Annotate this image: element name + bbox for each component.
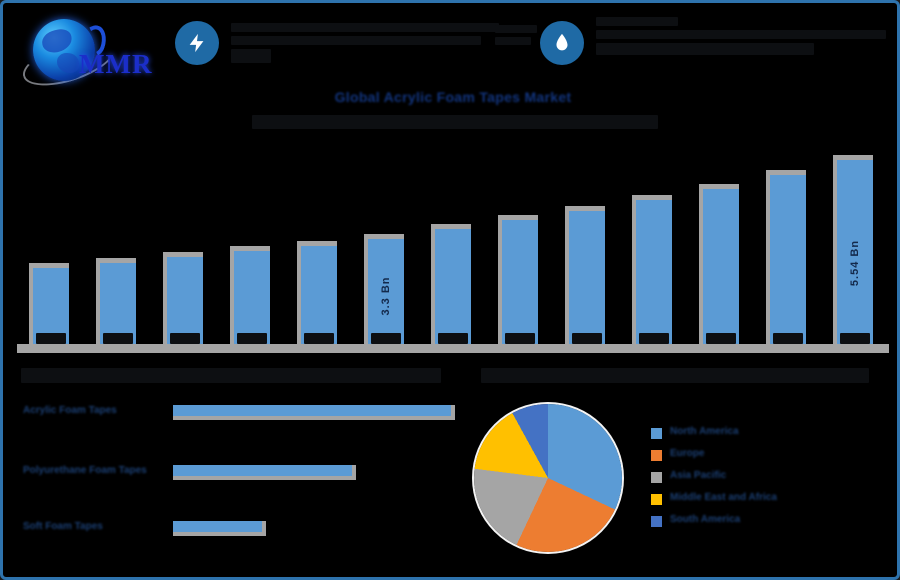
header-line [596, 30, 886, 39]
segment-bar-chart: Acrylic Foam TapesPolyurethane Foam Tape… [17, 399, 467, 561]
segment-label: Soft Foam Tapes [23, 521, 103, 534]
legend-swatch [651, 494, 662, 505]
legend-label: North America [670, 426, 739, 437]
header-line [596, 43, 814, 55]
legend-swatch [651, 450, 662, 461]
legend-label: Europe [670, 448, 704, 459]
x-axis-tick-label [706, 333, 736, 344]
bar-fill [703, 189, 739, 351]
section-header-right [481, 368, 869, 383]
brand-text: MMR [79, 49, 152, 80]
section-header-left [21, 368, 441, 383]
bar-column [565, 206, 609, 351]
mmr-logo: MMR [19, 13, 159, 79]
bar-chart-x-labels [17, 333, 889, 347]
legend-swatch [651, 472, 662, 483]
x-axis-tick-label [371, 333, 401, 344]
x-axis-tick-label [773, 333, 803, 344]
legend-item: Europe [651, 447, 881, 469]
segment-label: Polyurethane Foam Tapes [23, 465, 147, 478]
region-pie-chart [474, 404, 622, 552]
bar-column [431, 224, 475, 351]
x-axis-tick-label [572, 333, 602, 344]
header-text-block-left [231, 23, 499, 67]
bar-fill [770, 175, 806, 351]
header-line [495, 25, 537, 33]
segment-bar-fill [173, 465, 352, 476]
page-title: Global Acrylic Foam Tapes Market [3, 89, 900, 105]
page-subtitle [252, 115, 658, 129]
x-axis-tick-label [505, 333, 535, 344]
x-axis-tick-label [237, 333, 267, 344]
bar-column [699, 184, 743, 351]
x-axis-tick-label [639, 333, 669, 344]
legend-item: Middle East and Africa [651, 491, 881, 513]
header-line [495, 37, 531, 45]
bar-fill [569, 211, 605, 351]
x-axis-tick-label [438, 333, 468, 344]
market-infographic-page: MMR Global Acrylic Foam T [0, 0, 900, 580]
header-line [231, 23, 499, 32]
header-line [231, 49, 271, 63]
header-text-block-mini [495, 25, 537, 49]
bar-column [498, 215, 542, 351]
x-axis-tick-label [36, 333, 66, 344]
bar-chart: 3.3 Bn5.54 Bn [17, 139, 889, 351]
bar-fill [502, 220, 538, 351]
flame-drop-icon [540, 21, 584, 65]
pie-legend: North AmericaEuropeAsia PacificMiddle Ea… [651, 425, 881, 535]
legend-swatch [651, 516, 662, 527]
legend-label: Middle East and Africa [670, 492, 777, 503]
segment-bar-fill [173, 405, 451, 416]
bar-column [632, 195, 676, 351]
header: MMR [3, 3, 900, 83]
legend-item: Asia Pacific [651, 469, 881, 491]
legend-label: South America [670, 514, 740, 525]
legend-item: South America [651, 513, 881, 535]
x-axis-tick-label [170, 333, 200, 344]
legend-swatch [651, 428, 662, 439]
bar-value-label: 3.3 Bn [380, 276, 392, 315]
segment-bar-fill [173, 521, 262, 532]
lightning-bolt-icon [175, 21, 219, 65]
bar-column: 5.54 Bn [833, 155, 877, 351]
bar-column [766, 170, 810, 351]
bar-fill [636, 200, 672, 351]
header-text-block-right [596, 17, 886, 59]
header-line [231, 36, 481, 45]
bar-value-label: 5.54 Bn [849, 240, 861, 286]
segment-label: Acrylic Foam Tapes [23, 405, 117, 418]
legend-item: North America [651, 425, 881, 447]
x-axis-tick-label [304, 333, 334, 344]
header-line [596, 17, 678, 26]
legend-label: Asia Pacific [670, 470, 726, 481]
x-axis-tick-label [840, 333, 870, 344]
x-axis-tick-label [103, 333, 133, 344]
